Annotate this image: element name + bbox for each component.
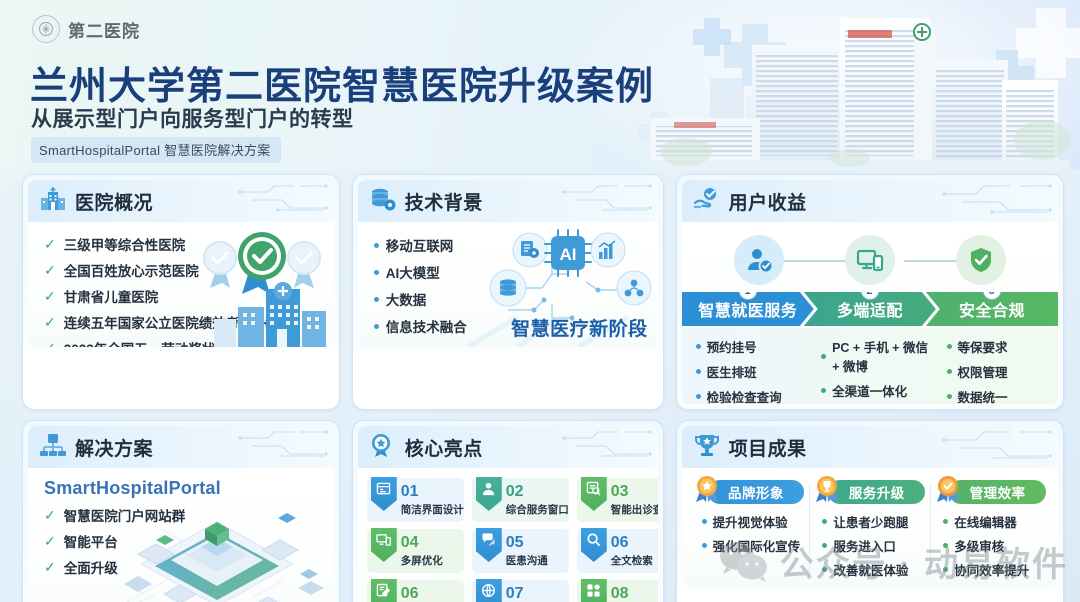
brand-logo-text: 第二医院 [68, 17, 140, 42]
globe-icon [476, 579, 502, 602]
platform-isometric-art [102, 488, 332, 602]
benefit-step-3[interactable]: 3 安全合规 [926, 292, 1058, 326]
hospital-seal-icon [32, 15, 60, 43]
list-item: 服务进入口 [822, 536, 925, 555]
card-body: ✓三级甲等综合性医院 ✓全国百姓放心示范医院 ✓甘肃省儿童医院 ✓连续五年国家公… [28, 222, 334, 347]
highlight-item[interactable]: 07英文版本 [472, 580, 569, 602]
bullet-dot [943, 519, 948, 524]
bullet-dot [943, 543, 948, 548]
bullet-dot [696, 394, 701, 399]
card-tech-background: 技术背景 [352, 174, 664, 410]
check-icon: ✓ [44, 340, 56, 348]
service-agent-icon [476, 477, 502, 511]
step-label: 智慧就医服务 [698, 297, 797, 321]
benefit-steps-row: 1 智慧就医服务 2 多端适配 3 安全合规 [682, 292, 1058, 326]
card-header: 解决方案 [28, 426, 334, 468]
list-item: 在线编辑器 [943, 512, 1046, 531]
card-body: AI 移动互联网 AI大模型 大数据 信息技术融合 智慧医疗新 [358, 222, 658, 347]
list-item: 医生排班 [696, 362, 803, 381]
highlights-grid: 01简洁界面设计 02综合服务窗口 03智能出诊 [367, 478, 649, 602]
highlight-number: 02 [506, 484, 569, 500]
grid-apps-icon [581, 579, 607, 602]
card-body: 1 智慧就医服务 2 多端适配 3 安全合规 [682, 222, 1058, 404]
highlight-label: 全文检索 [611, 553, 653, 568]
list-item: 预约挂号 [696, 337, 803, 356]
card-body: SmartHospitalPortal ✓智慧医院门户网站群 ✓智能平台 ✓全面… [28, 468, 334, 602]
bullet-dot [822, 567, 827, 572]
list-item: 多级审核 [943, 536, 1046, 555]
highlight-item[interactable]: 02综合服务窗口 [472, 478, 569, 522]
circuit-decor-icon [238, 184, 328, 216]
check-icon: ✓ [44, 533, 56, 550]
bullet-dot [374, 324, 379, 329]
bullet-dot [821, 388, 826, 393]
benefit-step-2[interactable]: 2 多端适配 [804, 292, 936, 326]
card-body: 01简洁界面设计 02综合服务窗口 03智能出诊 [358, 468, 658, 602]
benefit-details-row: 预约挂号 医生排班 检验检查查询 PC + 手机 + 微信 + 微博 全渠道一体… [682, 328, 1058, 404]
highlight-number: 03 [611, 484, 658, 500]
multi-device-icon [845, 235, 895, 285]
benefit-list-2: PC + 手机 + 微信 + 微博 全渠道一体化 [807, 328, 932, 404]
user-check-icon [734, 235, 784, 285]
check-icon: ✓ [44, 262, 56, 279]
card-title: 核心亮点 [405, 434, 483, 461]
list-item: 让患者少跑腿 [822, 512, 925, 531]
list-item: 协同效率提升 [943, 560, 1046, 579]
bullet-dot [822, 519, 827, 524]
highlight-item[interactable]: 03智能出诊查询 [577, 478, 658, 522]
solution-tag: SmartHospitalPortal 智慧医院解决方案 [31, 137, 281, 163]
check-icon: ✓ [44, 507, 56, 524]
highlight-label: 简洁界面设计 [401, 502, 464, 517]
highlight-label: 综合服务窗口 [506, 502, 569, 517]
benefit-list-3: 等保要求 权限管理 数据统一 [933, 328, 1058, 404]
svg-text:AI: AI [559, 245, 576, 264]
card-title: 项目成果 [729, 434, 807, 461]
bullet-dot [374, 297, 379, 302]
check-icon: ✓ [44, 314, 56, 331]
circuit-decor-icon [942, 430, 1052, 462]
bullet-dot [822, 543, 827, 548]
card-header: 医院概况 [28, 180, 334, 222]
list-item: PC + 手机 + 微信 + 微博 [821, 337, 928, 375]
trophy-icon [694, 433, 720, 462]
highlight-item[interactable]: 01简洁界面设计 [367, 478, 464, 522]
page-subtitle: 从展示型门户向服务型门户的转型 [31, 103, 354, 133]
card-solution: 解决方案 [22, 420, 340, 602]
hospital-art-icon [212, 281, 328, 347]
list-item: 提升视觉体验 [702, 512, 805, 531]
highlight-number: 07 [506, 586, 548, 602]
highlight-number: 01 [401, 484, 464, 500]
result-label-pill: 品牌形象 [708, 480, 805, 504]
bullet-dot [947, 369, 952, 374]
magnifier-icon [581, 528, 607, 562]
result-label-pill: 管理效率 [949, 480, 1046, 504]
step-label: 安全合规 [959, 297, 1025, 321]
card-title: 医院概况 [75, 188, 153, 215]
benefit-icons-row [682, 232, 1058, 288]
card-project-results: 项目成果 品牌形象 [676, 420, 1064, 602]
list-item: 改善就医体验 [822, 560, 925, 579]
hand-check-icon [694, 187, 720, 216]
result-label-pill: 服务升级 [828, 480, 925, 504]
shield-check-icon [956, 235, 1006, 285]
list-item: 等保要求 [947, 337, 1054, 356]
benefit-step-1[interactable]: 1 智慧就医服务 [682, 292, 814, 326]
circuit-decor-icon [562, 184, 652, 216]
content-board: 医院概况 [0, 168, 1080, 602]
check-icon: ✓ [44, 236, 56, 253]
bullet-dot [696, 344, 701, 349]
bullet-dot [947, 344, 952, 349]
list-item: 全渠道一体化 [821, 381, 928, 400]
result-list: 让患者少跑腿 服务进入口 改善就医体验 [814, 512, 925, 579]
result-label: 管理效率 [970, 482, 1026, 502]
check-icon: ✓ [44, 559, 56, 576]
bullet-dot [702, 519, 707, 524]
highlight-item[interactable]: 08多平台整合 [577, 580, 658, 602]
card-user-benefits: 用户收益 [676, 174, 1064, 410]
highlight-number: 04 [401, 535, 443, 551]
card-title: 解决方案 [75, 434, 153, 461]
circuit-decor-icon [942, 184, 1052, 216]
result-group-service: 服务升级 让患者少跑腿 服务进入口 改善就医体验 [812, 480, 927, 586]
result-group-brand: 品牌形象 提升视觉体验 强化国际化宣传 [692, 480, 807, 586]
highlight-item[interactable]: 06全文检索 [367, 580, 464, 602]
list-item: 权限管理 [947, 362, 1054, 381]
layout-card-icon [371, 477, 397, 511]
brand-logo: 第二医院 [32, 15, 140, 43]
circuit-decor-icon [238, 430, 328, 462]
board-row-bottom: 解决方案 [22, 420, 1064, 602]
medal-check-icon [935, 475, 961, 505]
page-header: 第二医院 兰州大学第二医院智慧医院升级案例 从展示型门户向服务型门户的转型 Sm… [0, 0, 1080, 170]
medal-star-icon [694, 475, 720, 505]
check-icon: ✓ [44, 288, 56, 305]
card-header: 技术背景 [358, 180, 658, 222]
page-title: 兰州大学第二医院智慧医院升级案例 [30, 55, 654, 110]
result-list: 提升视觉体验 强化国际化宣传 [694, 512, 805, 555]
list-item: 强化国际化宣传 [702, 536, 805, 555]
card-header: 用户收益 [682, 180, 1058, 222]
highlight-item[interactable]: 04多屏优化 [367, 529, 464, 573]
result-label: 服务升级 [849, 482, 905, 502]
highlight-label: 智能出诊查询 [611, 502, 658, 517]
step-label: 多端适配 [837, 297, 903, 321]
bullet-dot [821, 354, 826, 359]
bullet-dot [374, 243, 379, 248]
highlight-number: 06 [611, 535, 653, 551]
doc-search-icon [581, 477, 607, 511]
card-body: 品牌形象 提升视觉体验 强化国际化宣传 [682, 468, 1058, 586]
bullet-dot [374, 270, 379, 275]
bullet-dot [702, 543, 707, 548]
monitor-phone-icon [371, 528, 397, 562]
highlight-label: 医患沟通 [506, 553, 548, 568]
highlight-number: 06 [401, 586, 443, 602]
database-gear-icon [370, 187, 396, 216]
card-header: 核心亮点 [358, 426, 658, 468]
board-row-top: 医院概况 [22, 174, 1064, 410]
list-item: 检验检查查询 [696, 387, 803, 404]
medal-cup-icon [814, 475, 840, 505]
edit-doc-icon [371, 579, 397, 602]
card-header: 项目成果 [682, 426, 1058, 468]
hospital-photo-illustration [650, 0, 1070, 170]
chat-bubbles-icon [476, 528, 502, 562]
card-title: 用户收益 [729, 188, 807, 215]
result-group-management: 管理效率 在线编辑器 多级审核 协同效率提升 [933, 480, 1048, 586]
ribbon-star-icon [370, 433, 396, 462]
bullet-dot [947, 394, 952, 399]
benefit-list-1: 预约挂号 医生排班 检验检查查询 [682, 328, 807, 404]
hospital-building-icon [40, 187, 66, 216]
bullet-dot [696, 369, 701, 374]
sitemap-icon [40, 433, 66, 462]
highlight-label: 多屏优化 [401, 553, 443, 568]
card-hospital-overview: 医院概况 [22, 174, 340, 410]
highlight-number: 08 [611, 586, 658, 602]
card-core-highlights: 核心亮点 01简洁界面设计 [352, 420, 664, 602]
bullet-dot [943, 567, 948, 572]
list-item: 数据统一 [947, 387, 1054, 404]
tech-slogan: 智慧医疗新阶段 [511, 314, 648, 341]
highlight-item[interactable]: 06全文检索 [577, 529, 658, 573]
result-label: 品牌形象 [728, 482, 784, 502]
result-list: 在线编辑器 多级审核 协同效率提升 [935, 512, 1046, 579]
highlight-item[interactable]: 05医患沟通 [472, 529, 569, 573]
circuit-decor-icon [562, 430, 652, 462]
highlight-number: 05 [506, 535, 548, 551]
card-title: 技术背景 [405, 188, 483, 215]
